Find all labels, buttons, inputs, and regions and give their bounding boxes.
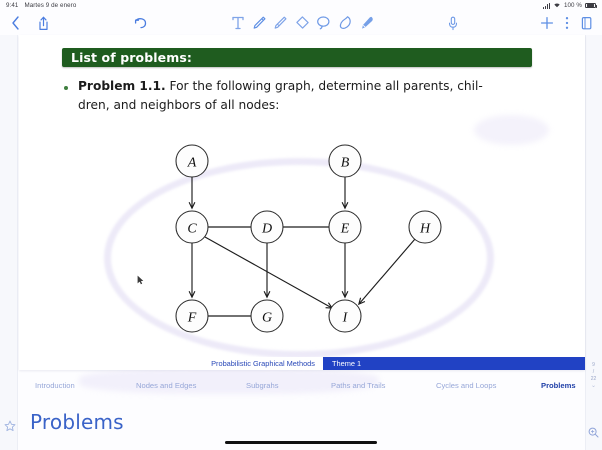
svg-text:B: B xyxy=(341,156,350,171)
graph-node-G: G xyxy=(251,300,283,332)
graph-node-E: E xyxy=(329,211,361,243)
microphone-icon[interactable] xyxy=(448,16,458,31)
slide-footer-course: Probabilistic Graphical Methods xyxy=(19,357,323,370)
battery-icon xyxy=(585,3,596,9)
status-time: 9:41 xyxy=(6,2,18,9)
lasso-tool-icon[interactable] xyxy=(316,15,331,31)
graph-node-C: C xyxy=(176,211,208,243)
svg-text:C: C xyxy=(187,222,197,237)
status-bar: 9:41 Martes 9 de enero 100 % xyxy=(0,0,602,11)
nav-item-cycles-and-loops[interactable]: Cycles and Loops xyxy=(436,381,541,390)
graph-node-B: B xyxy=(329,145,361,177)
edge-C-I xyxy=(205,237,332,308)
text-tool-icon[interactable] xyxy=(231,15,245,31)
graph-node-A: A xyxy=(176,145,208,177)
nav-item-paths-and-trails[interactable]: Paths and Trails xyxy=(331,381,436,390)
nav-item-nodes-and-edges[interactable]: Nodes and Edges xyxy=(136,381,246,390)
graph-svg: A B C D E xyxy=(19,35,585,370)
nav-item-subgrahs[interactable]: Subgrahs xyxy=(246,381,331,390)
chevron-down-icon[interactable]: ⌄ xyxy=(586,383,601,390)
svg-text:F: F xyxy=(187,311,197,326)
page-total: 22 xyxy=(586,376,601,383)
cursor-pointer-icon xyxy=(137,272,144,290)
slide-footer-theme: Theme 1 xyxy=(323,357,585,370)
graph-node-D: D xyxy=(251,211,283,243)
nav-item-introduction[interactable]: Introduction xyxy=(35,381,136,390)
page-indicator[interactable]: 9 / 22 ⌄ xyxy=(586,362,601,390)
battery-percent: 100 % xyxy=(564,2,582,9)
graph-figure: A B C D E xyxy=(19,35,585,370)
svg-text:H: H xyxy=(419,222,431,237)
page-title: Problems xyxy=(30,410,124,434)
left-sidebar-strip xyxy=(0,35,18,450)
graph-nodes: A B C D E xyxy=(176,145,441,332)
section-nav-bar: Introduction Nodes and Edges Subgrahs Pa… xyxy=(19,377,585,393)
back-chevron-icon[interactable] xyxy=(11,16,20,30)
slide-page[interactable]: List of problems: Problem 1.1. For the f… xyxy=(19,35,585,370)
share-icon[interactable] xyxy=(37,16,50,31)
home-indicator[interactable] xyxy=(225,441,377,444)
page-separator: / xyxy=(586,369,601,376)
svg-text:G: G xyxy=(262,311,272,326)
nav-item-problems[interactable]: Problems xyxy=(541,381,576,390)
undo-icon[interactable] xyxy=(134,17,148,30)
star-icon[interactable] xyxy=(4,419,16,437)
graph-node-F: F xyxy=(176,300,208,332)
svg-text:E: E xyxy=(340,222,350,237)
add-icon[interactable] xyxy=(540,16,554,30)
marker-tool-icon[interactable] xyxy=(359,15,375,31)
graph-node-I: I xyxy=(329,300,361,332)
edge-H-I xyxy=(359,239,415,304)
page-view-icon[interactable] xyxy=(580,16,593,31)
highlighter-tool-icon[interactable] xyxy=(273,15,288,31)
more-options-icon[interactable] xyxy=(565,16,569,30)
wifi-icon xyxy=(553,2,561,10)
slide-footer: Probabilistic Graphical Methods Theme 1 xyxy=(19,357,585,370)
svg-text:D: D xyxy=(261,222,272,237)
magnifier-icon[interactable] xyxy=(588,425,599,443)
app-root: 9:41 Martes 9 de enero 100 % xyxy=(0,0,602,450)
svg-text:A: A xyxy=(187,156,197,171)
status-date: Martes 9 de enero xyxy=(24,2,76,9)
eraser-tool-icon[interactable] xyxy=(295,15,310,31)
graph-edges xyxy=(192,177,415,316)
ruler-tool-icon[interactable] xyxy=(338,15,353,31)
signal-icon xyxy=(543,3,550,9)
app-toolbar xyxy=(0,11,602,35)
pen-tool-icon[interactable] xyxy=(252,15,267,31)
page-current: 9 xyxy=(586,362,601,369)
graph-node-H: H xyxy=(409,211,441,243)
